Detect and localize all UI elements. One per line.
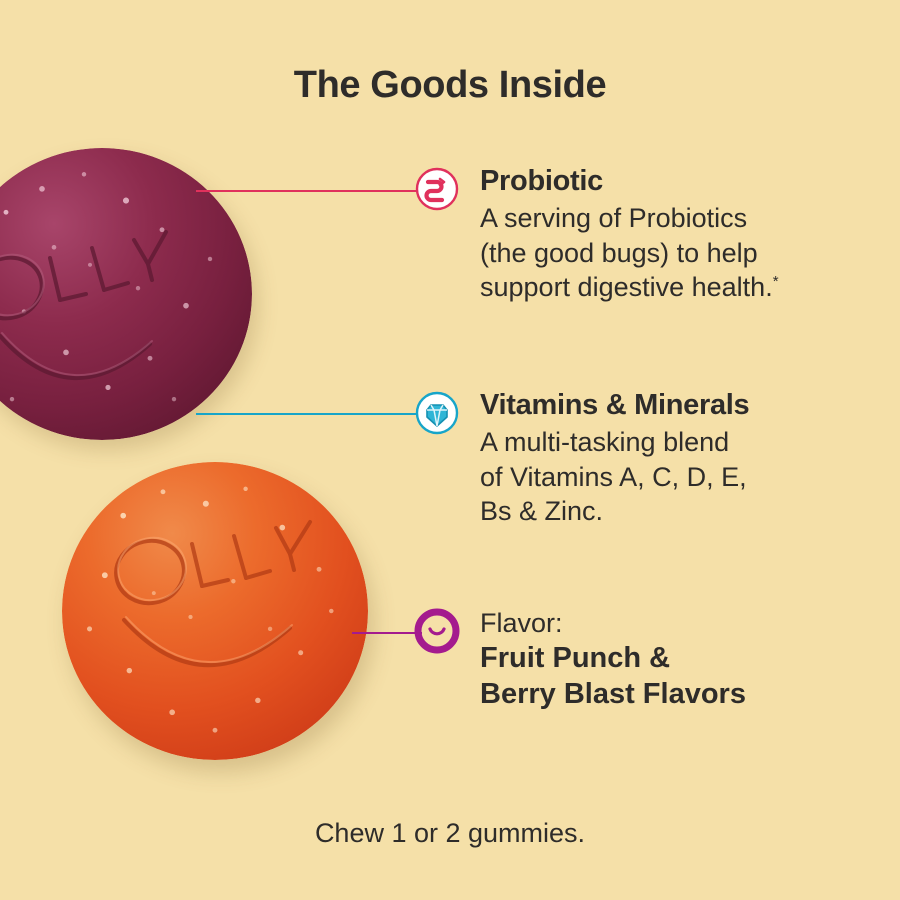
feature-flavor-label: Flavor: — [480, 608, 746, 638]
feature-vitamins-text: Vitamins & Minerals A multi-tasking blen… — [480, 390, 749, 529]
body-line: of Vitamins A, C, D, E, — [480, 460, 749, 495]
body-line: Bs & Zinc. — [480, 494, 749, 529]
connector-line-vitamins — [196, 413, 418, 415]
connector-line-probiotic — [196, 190, 418, 192]
feature-vitamins-minerals: Vitamins & Minerals A multi-tasking blen… — [414, 390, 749, 529]
intestine-icon — [414, 166, 460, 212]
feature-probiotic-text: Probiotic A serving of Probiotics (the g… — [480, 166, 779, 305]
body-line-with-footnote: support digestive health.* — [480, 270, 779, 305]
feature-vitamins-body: A multi-tasking blend of Vitamins A, C, … — [480, 425, 749, 529]
flavor-line: Berry Blast Flavors — [480, 677, 746, 712]
body-line-text: support digestive health. — [480, 272, 773, 302]
feature-probiotic-body: A serving of Probiotics (the good bugs) … — [480, 201, 779, 305]
orange-gummy-emboss — [62, 462, 368, 760]
orange-gummy — [62, 462, 368, 760]
feature-flavor-text: Flavor: Fruit Punch & Berry Blast Flavor… — [480, 608, 746, 712]
footer-note: Chew 1 or 2 gummies. — [0, 818, 900, 849]
feature-probiotic-heading: Probiotic — [480, 166, 779, 197]
connector-line-flavor — [352, 632, 422, 634]
flavor-line: Fruit Punch & — [480, 641, 746, 676]
gem-icon — [414, 390, 460, 436]
page-title: The Goods Inside — [0, 64, 900, 107]
body-line: A multi-tasking blend — [480, 425, 749, 460]
smile-icon — [414, 608, 460, 654]
feature-flavor: Flavor: Fruit Punch & Berry Blast Flavor… — [414, 608, 746, 712]
feature-flavor-value: Fruit Punch & Berry Blast Flavors — [480, 641, 746, 712]
infographic-canvas: The Goods Inside — [0, 0, 900, 900]
body-line: (the good bugs) to help — [480, 236, 779, 271]
footnote-marker: * — [773, 273, 779, 290]
feature-probiotic: Probiotic A serving of Probiotics (the g… — [414, 166, 779, 305]
feature-vitamins-heading: Vitamins & Minerals — [480, 390, 749, 421]
body-line: A serving of Probiotics — [480, 201, 779, 236]
